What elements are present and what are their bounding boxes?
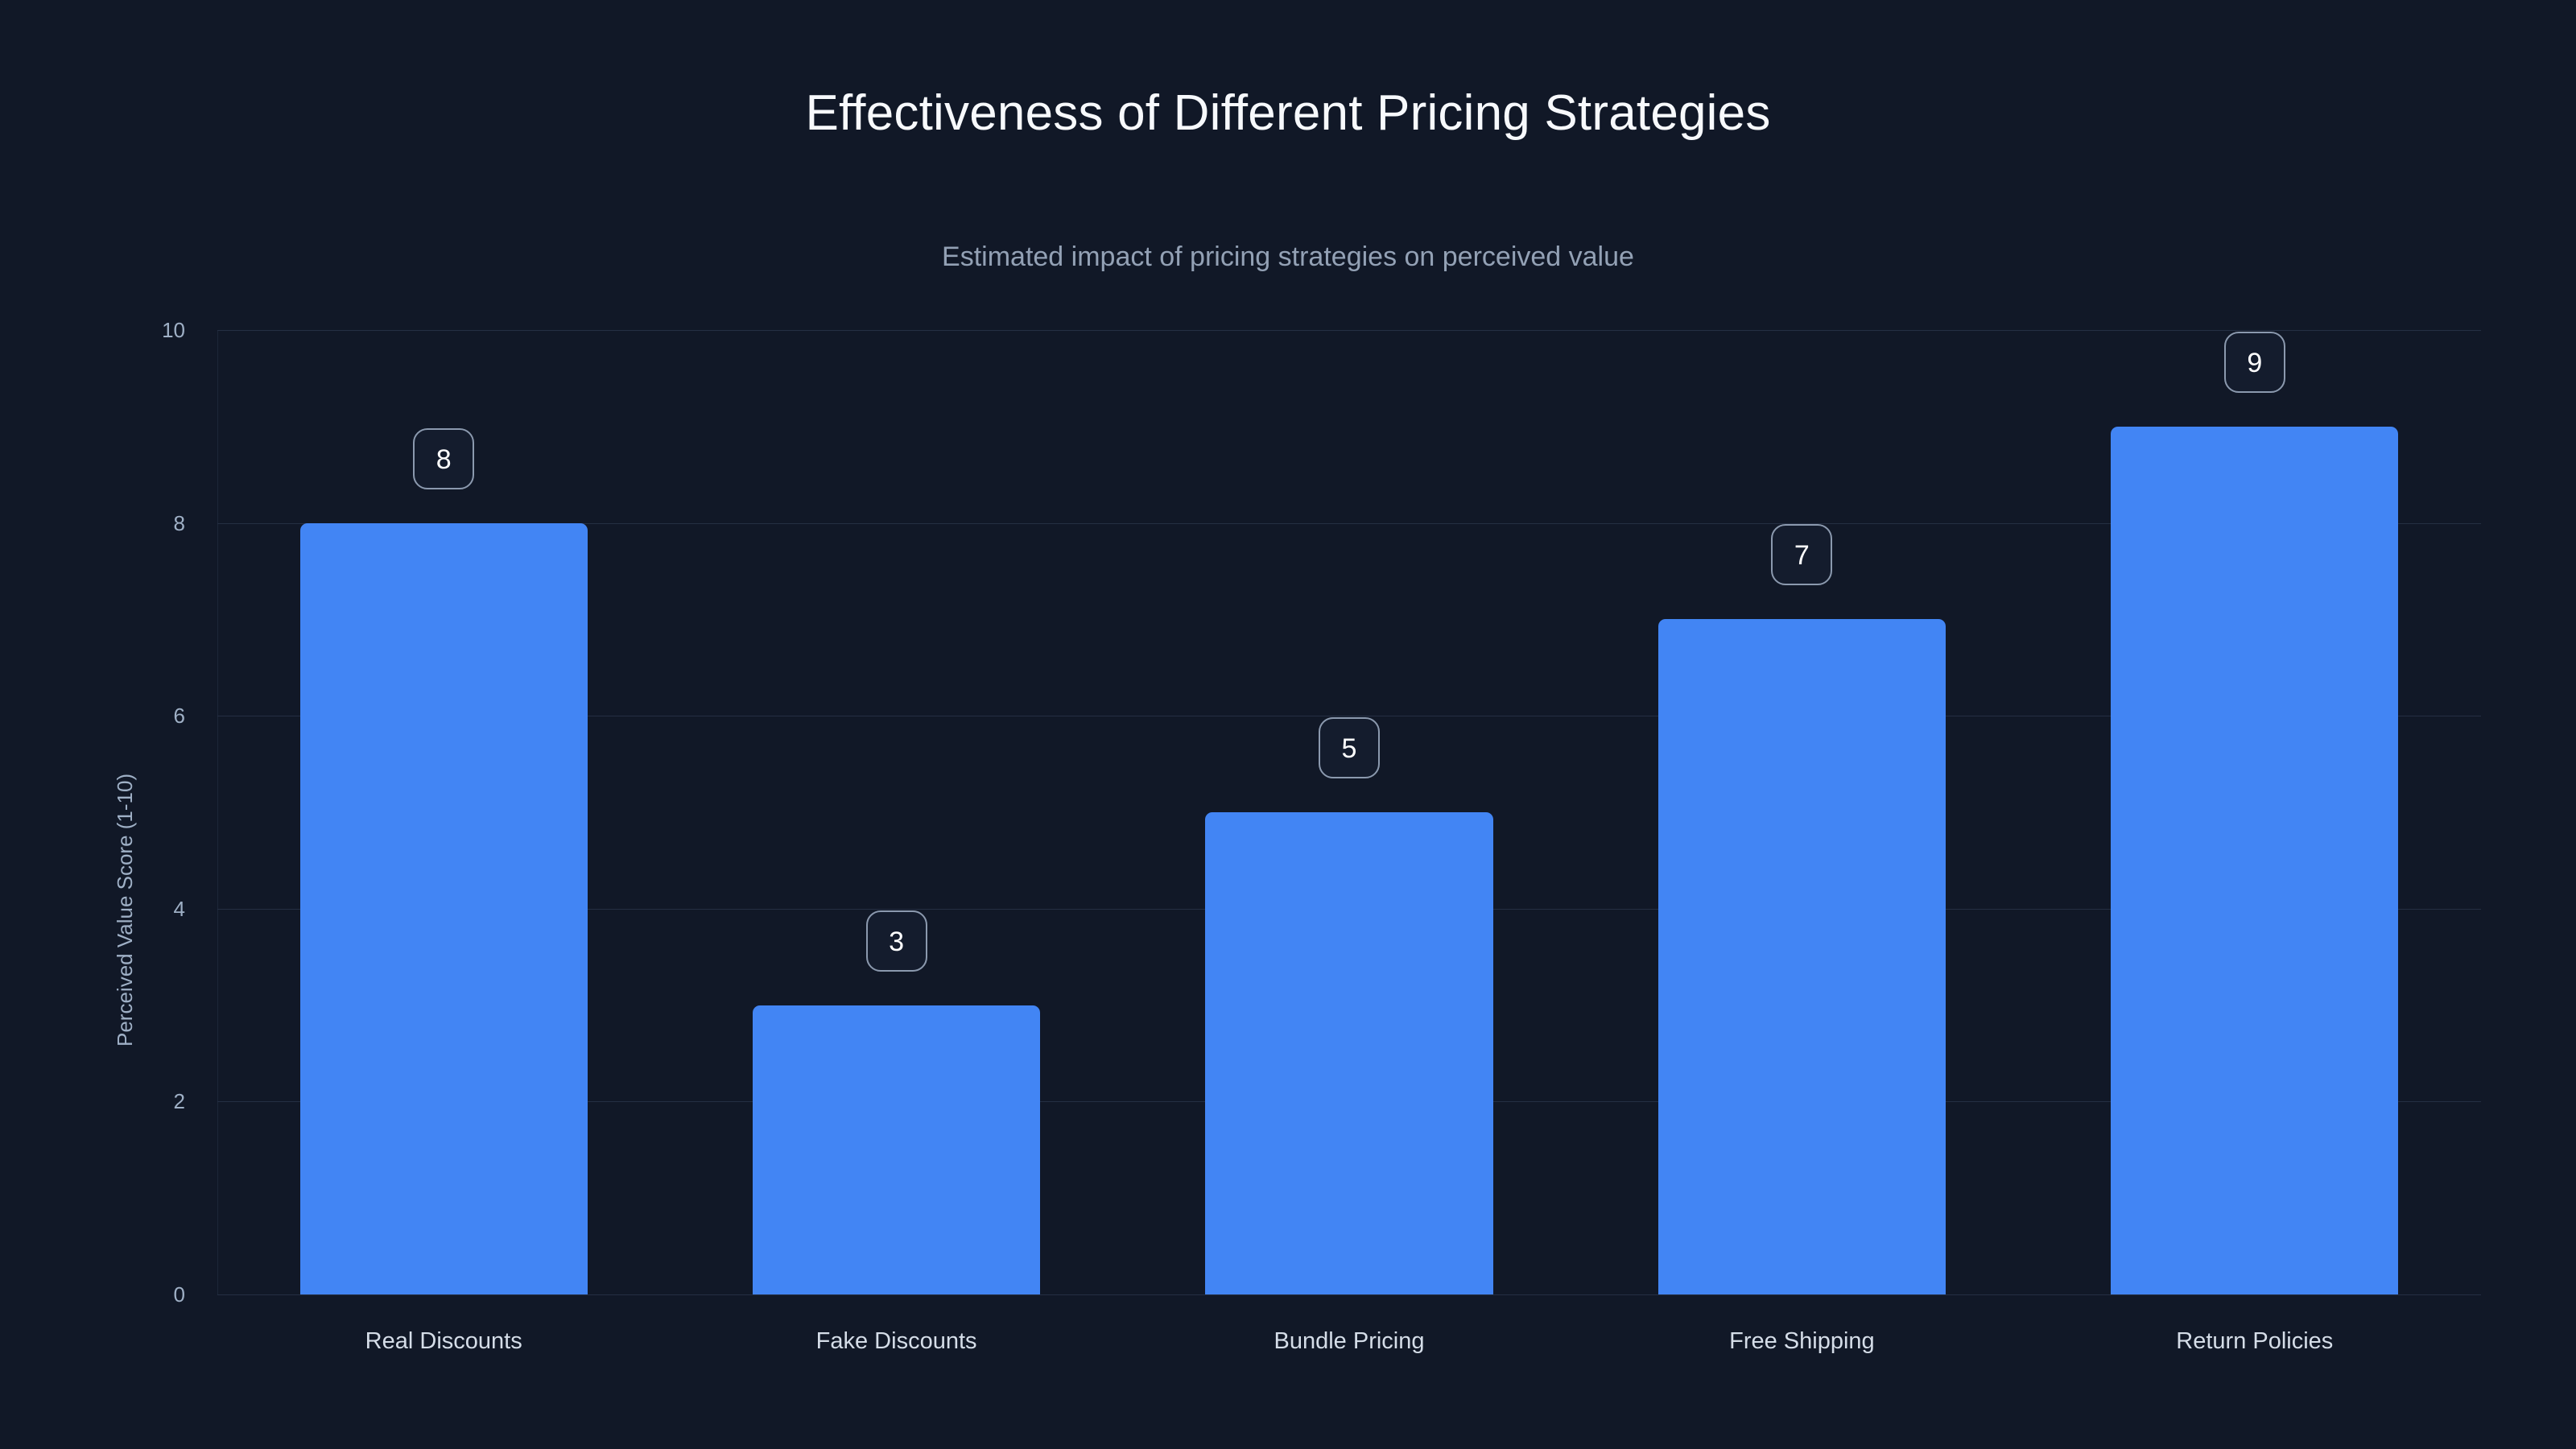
y-axis-tick-label: 4: [0, 897, 185, 922]
bar-value-label: 7: [1771, 524, 1832, 585]
bar[interactable]: [300, 523, 588, 1294]
gridline: [217, 330, 2481, 331]
chart-canvas: Effectiveness of Different Pricing Strat…: [0, 0, 2576, 1449]
y-axis-tick-label: 6: [0, 704, 185, 729]
bar[interactable]: [753, 1005, 1040, 1294]
plot-area: [217, 330, 2481, 1294]
x-axis-category-label: Fake Discounts: [655, 1328, 1138, 1355]
bar[interactable]: [1205, 812, 1492, 1294]
bar[interactable]: [2111, 427, 2398, 1294]
y-axis-tick-label: 0: [0, 1282, 185, 1307]
bar[interactable]: [1658, 619, 1946, 1294]
x-axis-category-label: Real Discounts: [202, 1328, 685, 1355]
bar-value-label: 3: [866, 910, 927, 972]
y-axis-tick-label: 10: [0, 318, 185, 343]
chart-title: Effectiveness of Different Pricing Strat…: [0, 85, 2576, 142]
x-axis-category-label: Bundle Pricing: [1108, 1328, 1591, 1355]
bar-value-label: 8: [413, 428, 474, 489]
x-axis-category-label: Free Shipping: [1560, 1328, 2043, 1355]
y-axis-tick-label: 2: [0, 1089, 185, 1114]
y-axis-tick-label: 8: [0, 511, 185, 536]
bar-value-label: 9: [2224, 332, 2285, 393]
gridline: [217, 1294, 2481, 1295]
y-axis-label: Perceived Value Score (1-10): [106, 563, 143, 1046]
x-axis-category-label: Return Policies: [2013, 1328, 2496, 1355]
chart-subtitle: Estimated impact of pricing strategies o…: [0, 242, 2576, 273]
bar-value-label: 5: [1319, 717, 1380, 778]
